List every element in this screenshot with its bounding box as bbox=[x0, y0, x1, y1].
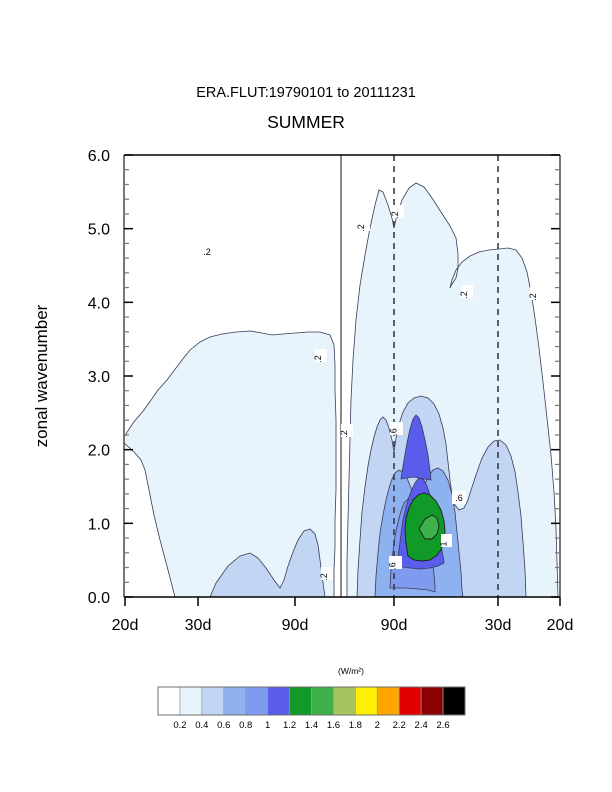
y-tick-label: 3.0 bbox=[88, 369, 110, 386]
contour-label-text: .2 bbox=[459, 291, 469, 299]
colorbar-tick-label: 1.2 bbox=[283, 720, 296, 731]
chart-subtitle: SUMMER bbox=[267, 112, 345, 132]
colorbar-swatch-green-mid[interactable] bbox=[312, 687, 334, 715]
colorbar-swatch-white[interactable] bbox=[158, 687, 180, 715]
contour-label-text: .6 bbox=[455, 493, 463, 503]
colorbar-tick-label: 0.4 bbox=[195, 720, 208, 731]
colorbar-swatch-dark-red[interactable] bbox=[421, 687, 443, 715]
colorbar-tick-label: 0.2 bbox=[173, 720, 186, 731]
colorbar-tick-label: 2.4 bbox=[415, 720, 428, 731]
colorbar-tick-label: 1.8 bbox=[349, 720, 362, 731]
contour-label-text: .2 bbox=[339, 430, 349, 438]
colorbar-tick-label: 1.4 bbox=[305, 720, 318, 731]
colorbar-tick-label: 1.6 bbox=[327, 720, 340, 731]
contour-label: .6 bbox=[452, 491, 466, 504]
colorbar-swatch-orange[interactable] bbox=[377, 687, 399, 715]
y-tick-label: 1.0 bbox=[88, 516, 110, 533]
colorbar-tick-label: 0.6 bbox=[217, 720, 230, 731]
contour-label-text: 1 bbox=[439, 541, 449, 546]
colorbar-swatch-light-blue[interactable] bbox=[202, 687, 224, 715]
x-tick-label: 30d bbox=[185, 617, 212, 634]
x-tick-label: 30d bbox=[485, 617, 512, 634]
colorbar-tick-label: 2 bbox=[375, 720, 380, 731]
contour-label-text: .6 bbox=[388, 562, 398, 570]
colorbar-tick-label: 1 bbox=[265, 720, 270, 731]
contour-label: .2 bbox=[356, 218, 370, 232]
x-tick-label: 20d bbox=[112, 617, 139, 634]
contour-label-text: .6 bbox=[389, 428, 399, 436]
colorbar-swatch-blue-1[interactable] bbox=[224, 687, 246, 715]
x-tick-label: 90d bbox=[381, 617, 408, 634]
colorbar-swatch-green-dark[interactable] bbox=[290, 687, 312, 715]
contour-label-text: .2 bbox=[356, 224, 366, 232]
y-axis-label: zonal wavenumber bbox=[32, 304, 51, 447]
contour-label: .6 bbox=[389, 422, 404, 436]
y-tick-label: 4.0 bbox=[88, 295, 110, 312]
contour-label: .2 bbox=[390, 205, 404, 219]
contour-label-text: .2 bbox=[203, 247, 211, 257]
colorbar-swatch-very-light-blue[interactable] bbox=[180, 687, 202, 715]
colorbar-unit-label: (W/m²) bbox=[338, 666, 364, 676]
contour-label: .2 bbox=[201, 245, 213, 258]
colorbar-swatch-indigo[interactable] bbox=[268, 687, 290, 715]
contour-fill-group bbox=[124, 155, 560, 597]
colorbar-swatch-black[interactable] bbox=[443, 687, 465, 715]
colorbar-swatch-green-light[interactable] bbox=[333, 687, 355, 715]
y-tick-label: 5.0 bbox=[88, 222, 110, 239]
colorbar-tick-label: 2.2 bbox=[393, 720, 406, 731]
contour-label: .2 bbox=[459, 285, 473, 299]
contour-label: .6 bbox=[388, 556, 403, 570]
wavenumber-frequency-spectrum-figure: ERA.FLUT:19790101 to 20111231 SUMMER zon… bbox=[0, 0, 612, 792]
colorbar-swatch-yellow[interactable] bbox=[355, 687, 377, 715]
colorbar[interactable]: 0.20.40.60.811.21.41.61.822.22.42.6 bbox=[158, 687, 465, 731]
y-tick-label: 2.0 bbox=[88, 443, 110, 460]
contour-label: .2 bbox=[528, 287, 542, 301]
colorbar-tick-label: 0.8 bbox=[239, 720, 252, 731]
contour-label: .2 bbox=[339, 424, 353, 438]
x-tick-label: 90d bbox=[282, 617, 309, 634]
contour-label: .2 bbox=[319, 567, 333, 581]
contour-label: .2 bbox=[313, 349, 327, 363]
y-tick-label: 0.0 bbox=[88, 590, 110, 607]
x-tick-label: 20d bbox=[547, 617, 574, 634]
contour-label-text: .2 bbox=[313, 355, 323, 363]
colorbar-swatch-red[interactable] bbox=[399, 687, 421, 715]
colorbar-swatch-blue-2[interactable] bbox=[246, 687, 268, 715]
contour-label-text: .2 bbox=[390, 211, 400, 219]
colorbar-tick-label: 2.6 bbox=[436, 720, 449, 731]
contour-label-text: .2 bbox=[319, 573, 329, 581]
y-tick-label: 6.0 bbox=[88, 148, 110, 165]
contour-label-text: .2 bbox=[528, 293, 538, 301]
chart-title: ERA.FLUT:19790101 to 20111231 bbox=[196, 85, 416, 101]
